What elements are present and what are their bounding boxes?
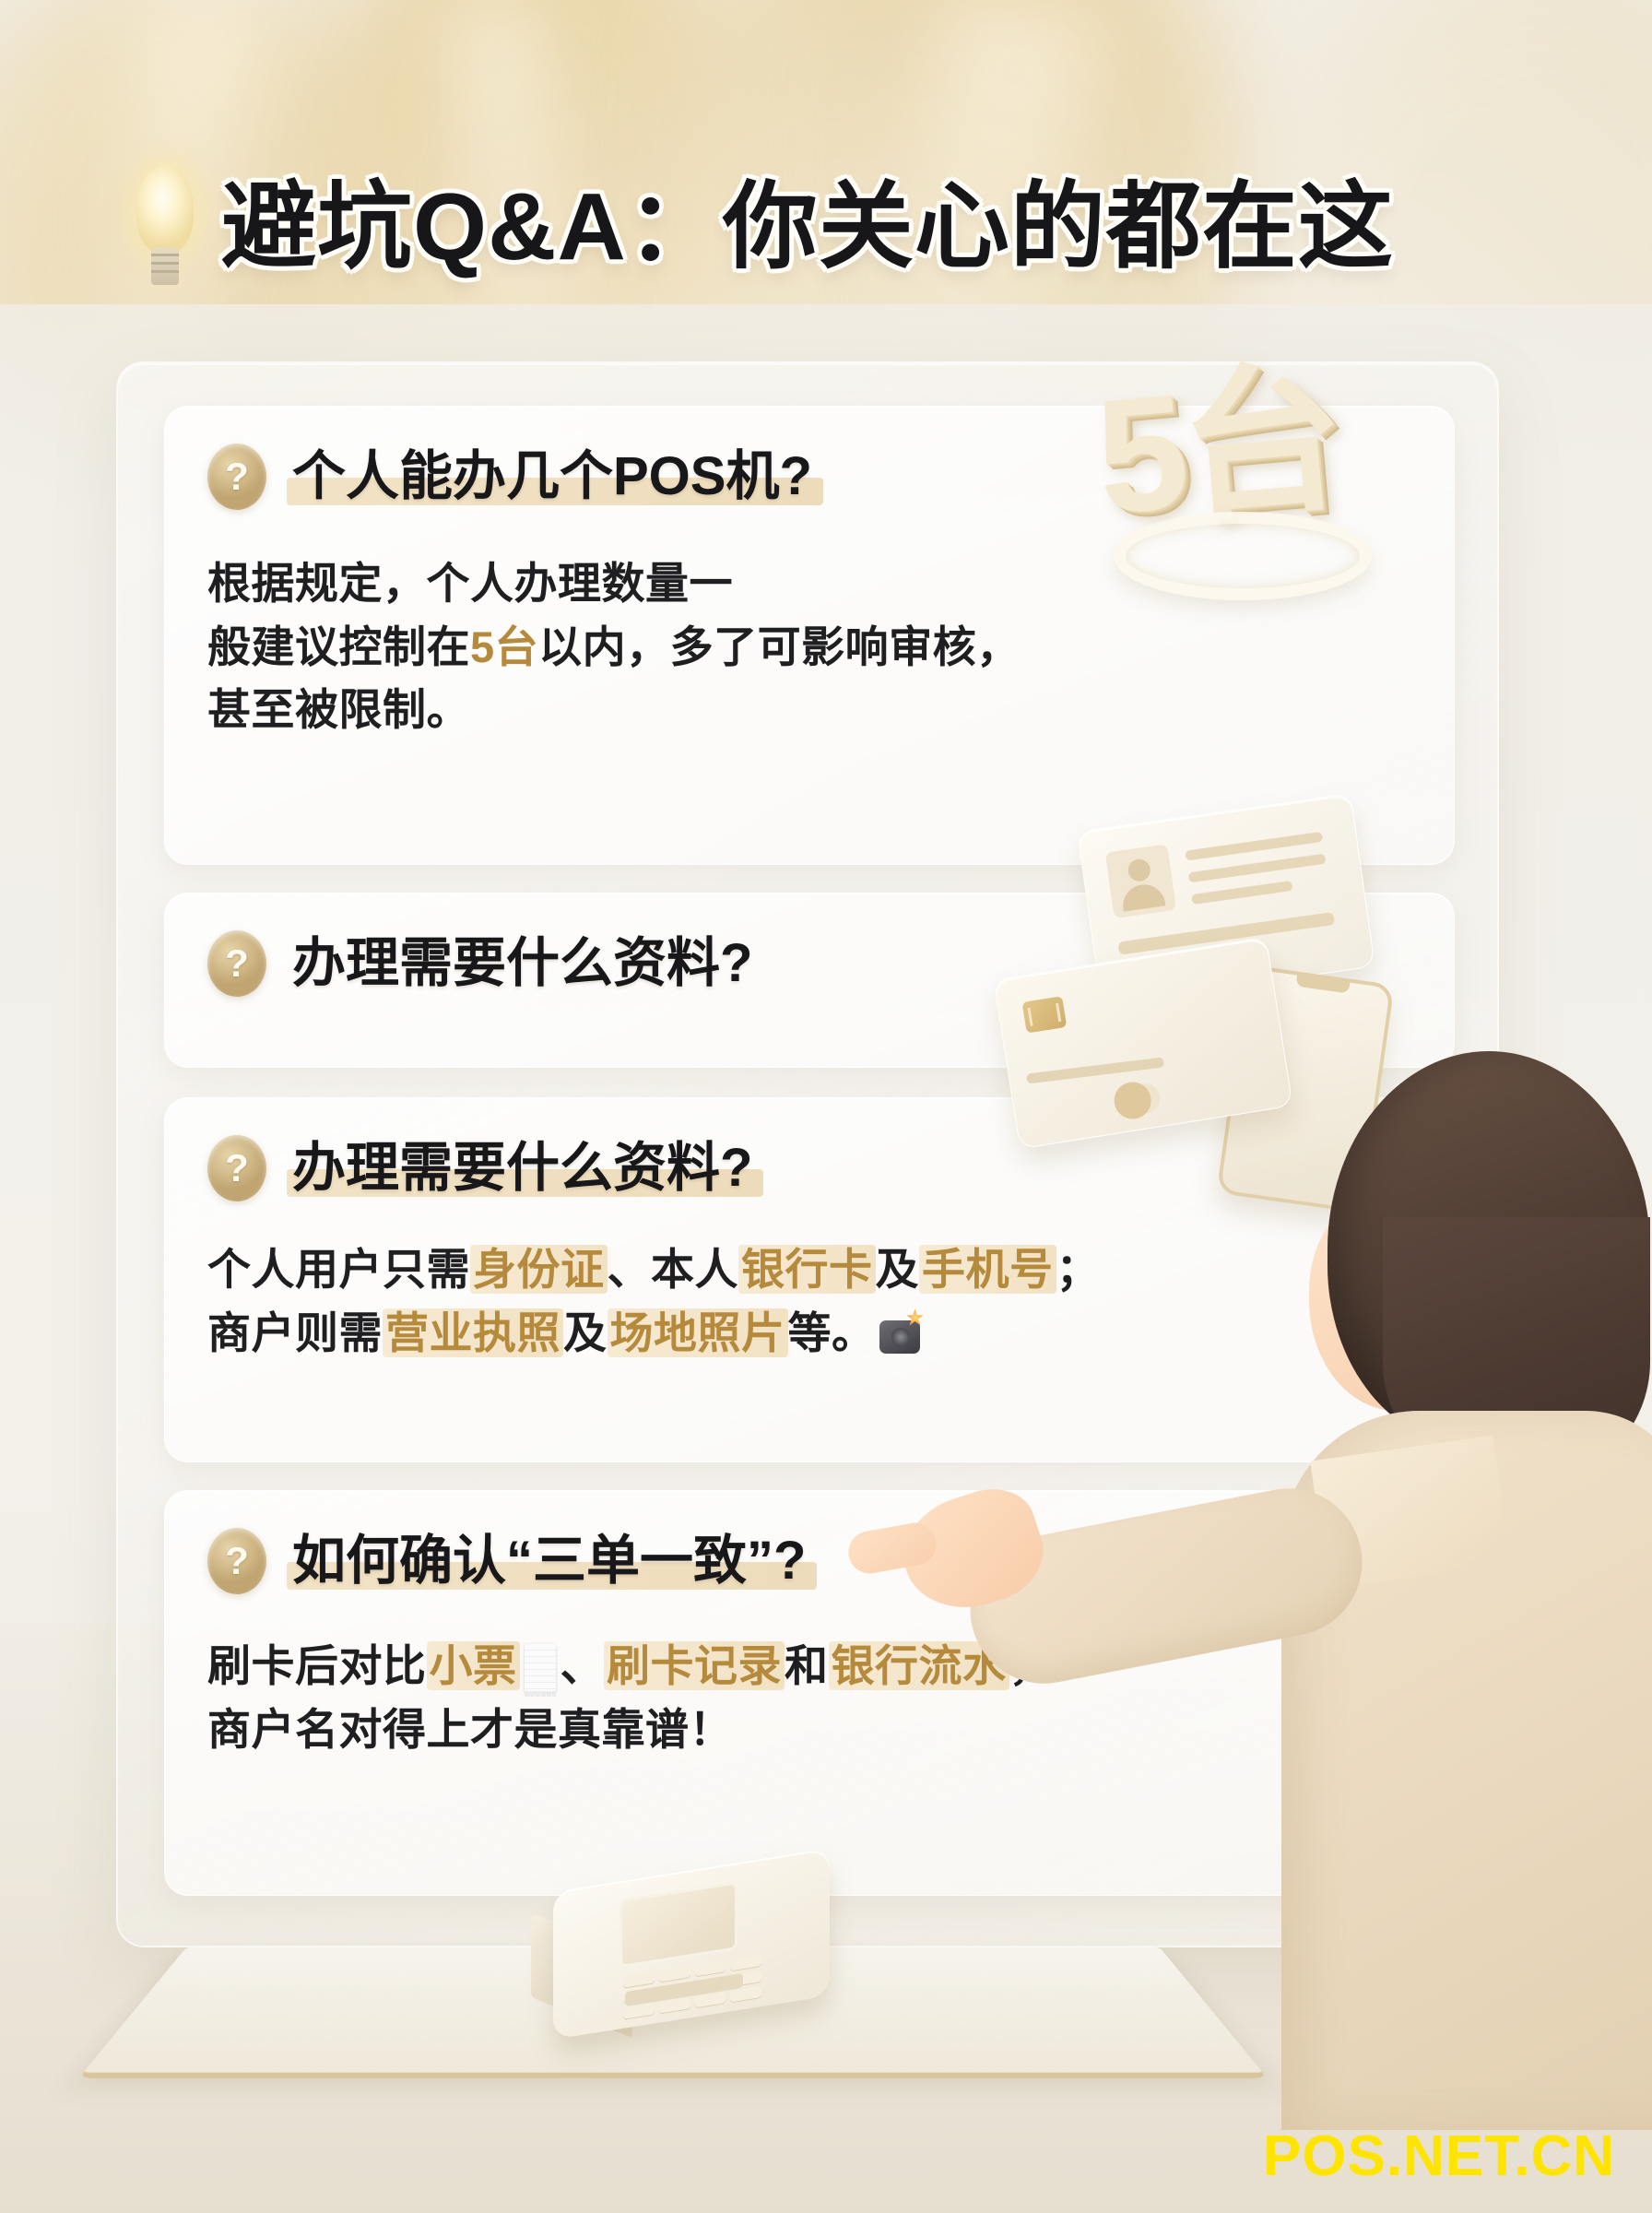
pos-terminal-3d (516, 1844, 885, 2084)
camera-icon (879, 1320, 920, 1354)
answer-keyword: 5台 (470, 622, 538, 671)
question-label: 个人能办几个POS机? (292, 446, 812, 506)
question-text: 个人能办几个POS机? (287, 446, 818, 508)
question-label: 如何确认“三单一致”? (292, 1531, 806, 1591)
answer-keyword: 刷卡记录 (604, 1641, 785, 1690)
question-row: ? 如何确认“三单一致”? (207, 1528, 811, 1594)
question-badge-label: ? (225, 1542, 249, 1580)
question-badge-label: ? (225, 457, 249, 496)
question-text: 办理需要什么资料? (287, 1138, 758, 1200)
question-mark-icon: ? (207, 1528, 266, 1594)
answer-keyword: 身份证 (470, 1245, 608, 1294)
question-row: ? 办理需要什么资料? (207, 930, 758, 997)
question-mark-icon: ? (207, 1135, 266, 1201)
question-badge-label: ? (225, 944, 249, 983)
hair (1327, 1051, 1650, 1448)
question-mark-icon: ? (207, 444, 266, 510)
question-row: ? 办理需要什么资料? (207, 1135, 758, 1201)
question-row: ? 个人能办几个POS机? (207, 444, 818, 510)
question-badge-label: ? (225, 1149, 249, 1188)
five-units-3d-icon: 5台 (1097, 373, 1401, 604)
question-label: 办理需要什么资料? (292, 1138, 752, 1198)
answer-keyword: 小票 (427, 1641, 520, 1690)
question-text: 办理需要什么资料? (287, 933, 758, 995)
pos-body (553, 1848, 830, 2040)
answer-keyword: 手机号 (919, 1245, 1056, 1294)
page-header: 避坑Q&A：你关心的都在这 (129, 138, 1530, 314)
woman-3d-figure (1272, 1051, 1652, 2121)
answer-keyword: 营业执照 (383, 1308, 563, 1357)
receipt-icon (525, 1644, 556, 1692)
question-text: 如何确认“三单一致”? (287, 1531, 811, 1592)
question-label: 办理需要什么资料? (292, 933, 752, 993)
answer-keyword: 银行卡 (738, 1245, 876, 1294)
pos-screen (619, 1881, 737, 1968)
answer-text: 个人用户只需身份证、本人银行卡及手机号；商户则需营业执照及场地照片等。 (207, 1238, 1351, 1365)
watermark: POS.NET.CN (1263, 2124, 1615, 2189)
page-title: 避坑Q&A：你关心的都在这 (221, 179, 1394, 274)
question-mark-icon: ? (207, 930, 266, 997)
answer-keyword: 场地照片 (608, 1308, 788, 1357)
lightbulb-icon (129, 165, 201, 287)
